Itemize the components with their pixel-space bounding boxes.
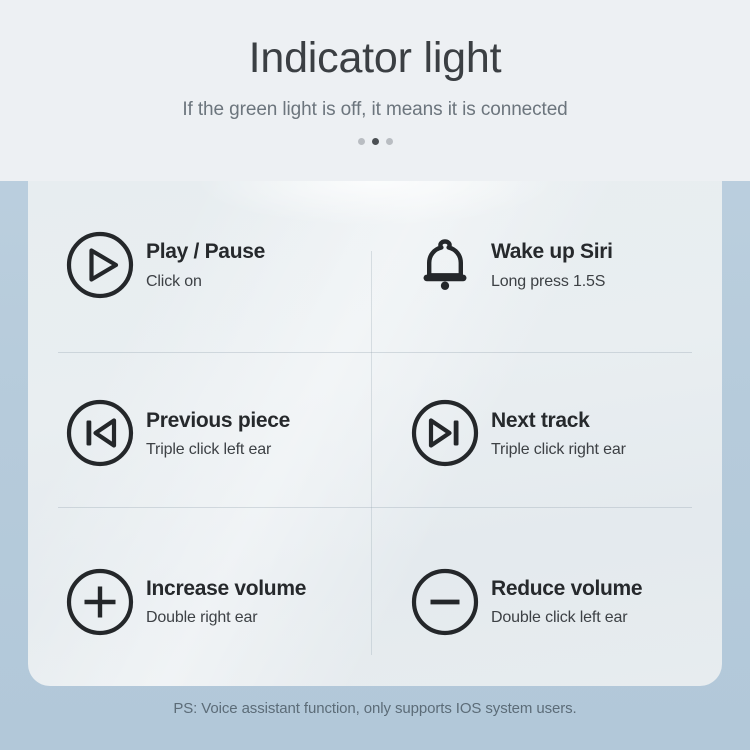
feature-title: Wake up Siri xyxy=(491,239,613,264)
feature-subtitle: Double click left ear xyxy=(491,608,642,627)
play-pause-circle-icon xyxy=(60,225,140,305)
feature-title: Reduce volume xyxy=(491,576,642,601)
feature-text-block: Next track Triple click right ear xyxy=(491,408,626,459)
feature-subtitle: Triple click right ear xyxy=(491,440,626,459)
carousel-dot-3[interactable] xyxy=(386,138,393,145)
footer-note: PS: Voice assistant function, only suppo… xyxy=(0,700,750,717)
feature-subtitle: Click on xyxy=(146,272,265,291)
feature-text-block: Previous piece Triple click left ear xyxy=(146,408,290,459)
feature-text-block: Play / Pause Click on xyxy=(146,239,265,290)
feature-subtitle: Double right ear xyxy=(146,608,306,627)
feature-item-play-pause: Play / Pause Click on xyxy=(28,181,375,349)
feature-item-reduce-volume: Reduce volume Double click left ear xyxy=(375,518,722,686)
header-band: Indicator light If the green light is of… xyxy=(0,0,750,181)
feature-item-next-track: Next track Triple click right ear xyxy=(375,349,722,517)
plus-circle-icon xyxy=(60,562,140,642)
row-divider-2 xyxy=(58,507,692,508)
minus-circle-icon xyxy=(405,562,485,642)
carousel-dots[interactable] xyxy=(358,138,393,145)
feature-title: Increase volume xyxy=(146,576,306,601)
row-divider-1 xyxy=(58,352,692,353)
feature-title: Next track xyxy=(491,408,626,433)
feature-subtitle: Triple click left ear xyxy=(146,440,290,459)
feature-text-block: Increase volume Double right ear xyxy=(146,576,306,627)
feature-item-previous-piece: Previous piece Triple click left ear xyxy=(28,349,375,517)
carousel-dot-1[interactable] xyxy=(358,138,365,145)
previous-track-circle-icon xyxy=(60,393,140,473)
features-panel: Play / Pause Click on Wake up Siri Long … xyxy=(28,181,722,686)
page-title: Indicator light xyxy=(249,34,502,82)
feature-title: Previous piece xyxy=(146,408,290,433)
feature-text-block: Reduce volume Double click left ear xyxy=(491,576,642,627)
features-grid: Play / Pause Click on Wake up Siri Long … xyxy=(28,181,722,686)
feature-item-wake-up-siri: Wake up Siri Long press 1.5S xyxy=(375,181,722,349)
carousel-dot-2[interactable] xyxy=(372,138,379,145)
column-divider xyxy=(371,251,372,655)
promo-page: Indicator light If the green light is of… xyxy=(0,0,750,750)
bell-icon xyxy=(405,225,485,305)
page-subtitle: If the green light is off, it means it i… xyxy=(182,99,567,121)
feature-title: Play / Pause xyxy=(146,239,265,264)
next-track-circle-icon xyxy=(405,393,485,473)
feature-item-increase-volume: Increase volume Double right ear xyxy=(28,518,375,686)
feature-text-block: Wake up Siri Long press 1.5S xyxy=(491,239,613,290)
feature-subtitle: Long press 1.5S xyxy=(491,272,613,291)
